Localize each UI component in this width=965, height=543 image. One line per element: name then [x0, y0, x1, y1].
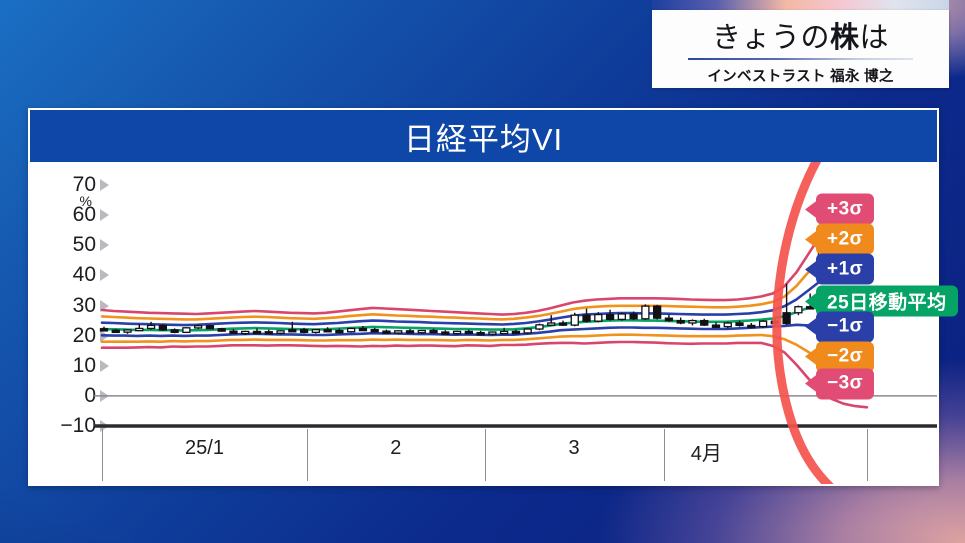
callout-plus2sigma[interactable]: +2σ	[816, 224, 874, 255]
callout-label: +2σ	[827, 228, 863, 250]
callout-minus1sigma[interactable]: −1σ	[816, 311, 874, 342]
callout-pointer-icon	[805, 318, 817, 336]
plot-region: 706050403020100−10% 25/1234月 +3σ+2σ+1σ25…	[30, 162, 937, 484]
banner-title-part1: きょうの	[712, 22, 830, 54]
callout-label: −2σ	[827, 346, 863, 368]
banner-title-part2: は	[860, 22, 890, 54]
callout-label: −1σ	[827, 316, 863, 338]
callout-label: −3σ	[827, 373, 863, 395]
broadcast-screen: きょうの株は インベストラスト 福永 博之 日経平均VI 70605040302…	[0, 0, 965, 543]
banner-gradient-strip	[652, 0, 949, 10]
callout-pointer-icon	[805, 200, 817, 218]
program-banner: きょうの株は インベストラスト 福永 博之	[652, 0, 949, 88]
callout-pointer-icon	[805, 230, 817, 248]
callout-pointer-icon	[805, 292, 817, 310]
banner-subtitle: インベストラスト 福永 博之	[707, 65, 893, 86]
chart-title: 日経平均VI	[404, 114, 563, 159]
callout-minus3sigma[interactable]: −3σ	[816, 368, 874, 399]
callout-label: +1σ	[827, 258, 863, 280]
series-callouts: +3σ+2σ+1σ25日移動平均−1σ−2σ−3σ	[30, 162, 937, 484]
chart-header: 日経平均VI	[30, 110, 937, 162]
banner-title-kanji: 株	[830, 22, 860, 54]
callout-label: +3σ	[827, 198, 863, 220]
callout-pointer-icon	[805, 348, 817, 366]
banner-title: きょうの株は	[712, 14, 889, 56]
chart-card: 日経平均VI 706050403020100−10% 25/1234月 +3σ+…	[28, 108, 939, 486]
callout-pointer-icon	[805, 375, 817, 393]
callout-plus1sigma[interactable]: +1σ	[816, 254, 874, 285]
banner-divider	[688, 58, 913, 60]
callout-pointer-icon	[805, 260, 817, 278]
callout-plus3sigma[interactable]: +3σ	[816, 194, 874, 225]
